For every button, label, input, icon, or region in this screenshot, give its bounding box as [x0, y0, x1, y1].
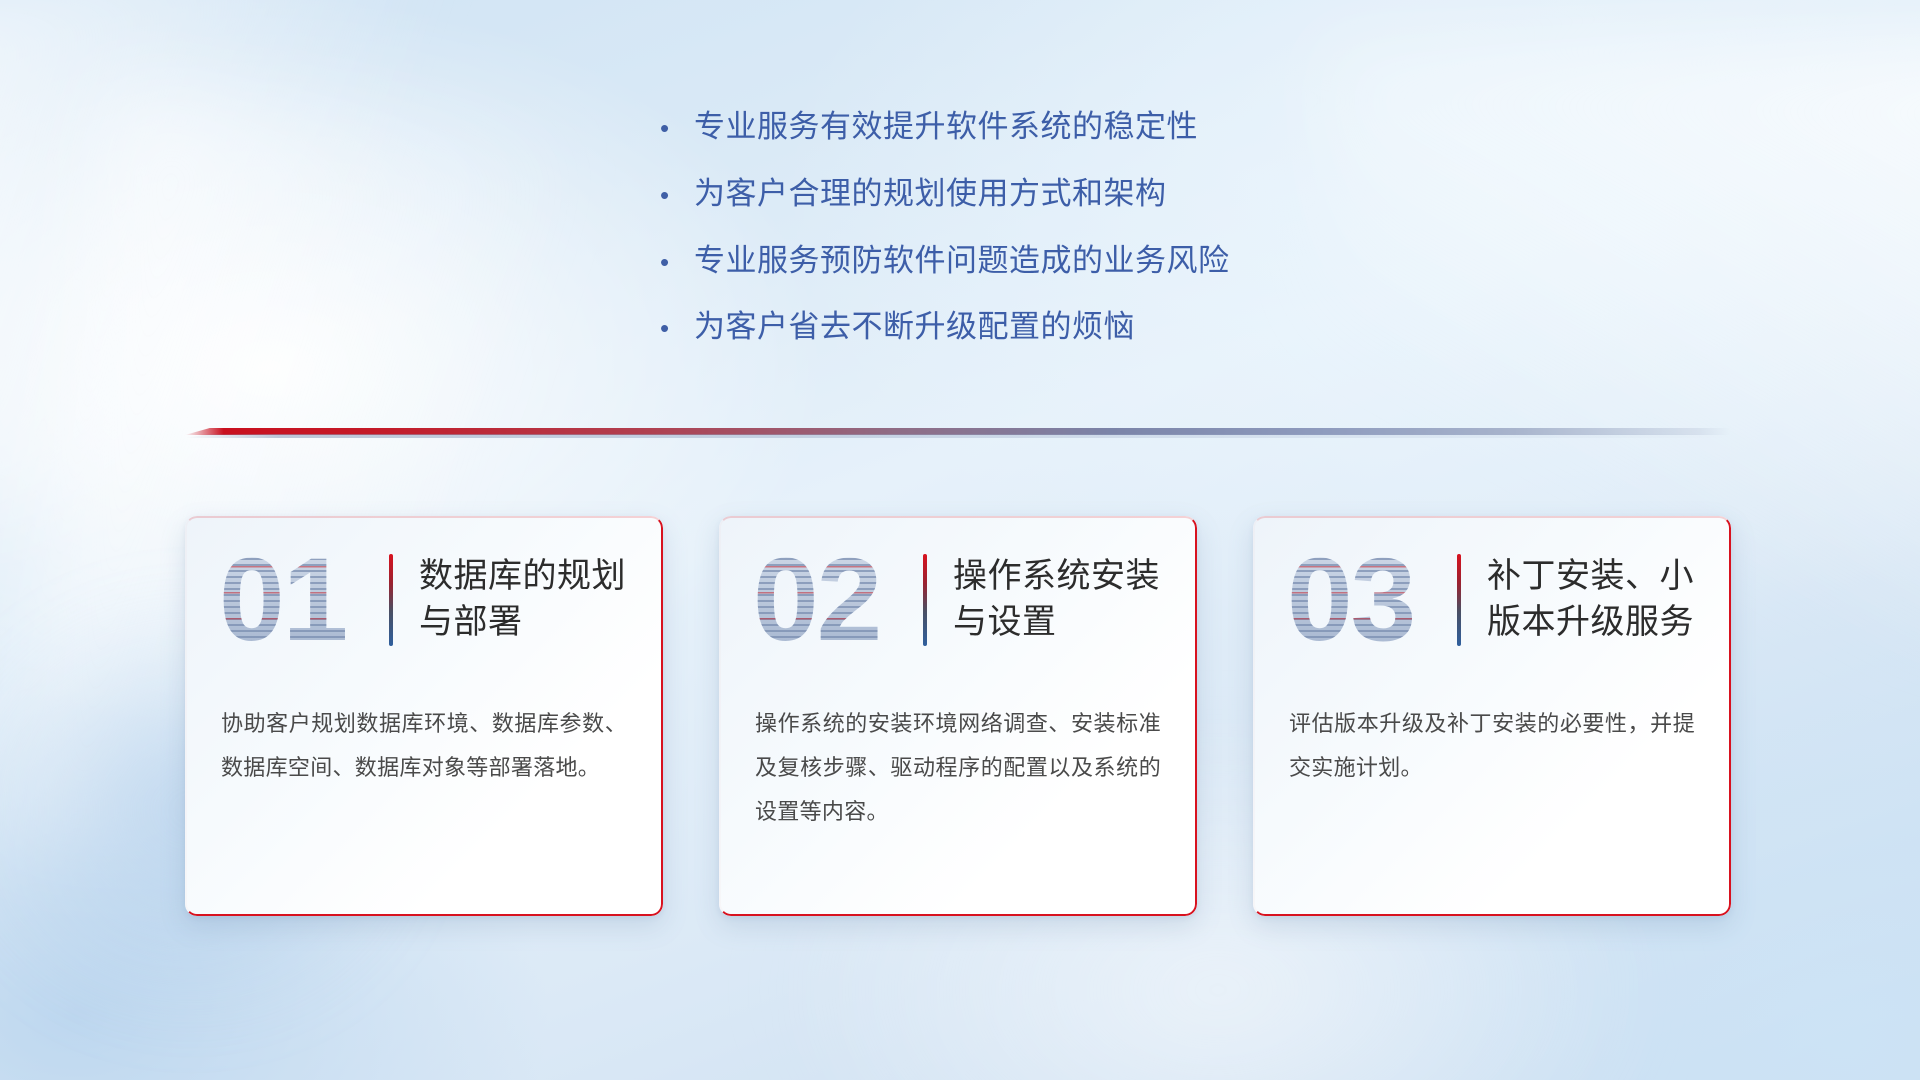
- bullet-dot-icon: •: [660, 315, 694, 341]
- section-divider: [185, 428, 1730, 440]
- card-01[interactable]: 0101 数据库的规划与部署 协助客户规划数据库环境、数据库参数、数据库空间、数…: [185, 516, 663, 916]
- card-header: 0202 操作系统安装与设置: [719, 516, 1197, 684]
- bullet-item-label: 为客户合理的规划使用方式和架构: [694, 175, 1167, 214]
- bullet-item: • 为客户合理的规划使用方式和架构: [660, 175, 1440, 214]
- card-02[interactable]: 0202 操作系统安装与设置 操作系统的安装环境网络调查、安装标准及复核步骤、驱…: [719, 516, 1197, 916]
- bullet-list: • 专业服务有效提升软件系统的稳定性 • 为客户合理的规划使用方式和架构 • 专…: [660, 108, 1440, 375]
- card-row: 0101 数据库的规划与部署 协助客户规划数据库环境、数据库参数、数据库空间、数…: [185, 516, 1733, 916]
- bullet-item-label: 专业服务预防软件问题造成的业务风险: [694, 242, 1230, 281]
- card-03[interactable]: 0303 补丁安装、小版本升级服务 评估版本升级及补丁安装的必要性，并提交实施计…: [1253, 516, 1731, 916]
- bullet-item-label: 为客户省去不断升级配置的烦恼: [694, 308, 1135, 347]
- card-body-text: 协助客户规划数据库环境、数据库参数、数据库空间、数据库对象等部署落地。: [185, 702, 663, 790]
- bullet-dot-icon: •: [660, 249, 694, 275]
- bullet-dot-icon: •: [660, 182, 694, 208]
- card-number-watermark: 0303: [1287, 540, 1447, 660]
- card-title: 补丁安装、小版本升级服务: [1487, 554, 1705, 646]
- accent-bar: [923, 554, 927, 646]
- accent-bar: [389, 554, 393, 646]
- card-header: 0303 补丁安装、小版本升级服务: [1253, 516, 1731, 684]
- card-number-watermark: 0101: [219, 540, 379, 660]
- divider-shadow: [185, 434, 1730, 438]
- slide-canvas: • 专业服务有效提升软件系统的稳定性 • 为客户合理的规划使用方式和架构 • 专…: [0, 0, 1920, 1080]
- card-title: 操作系统安装与设置: [953, 554, 1171, 646]
- accent-bar: [1457, 554, 1461, 646]
- card-number-watermark: 0202: [753, 540, 913, 660]
- card-number-watermark-overlay: 02: [753, 540, 913, 660]
- card-number-watermark-overlay: 01: [219, 540, 379, 660]
- bullet-item-label: 专业服务有效提升软件系统的稳定性: [694, 108, 1198, 147]
- card-body-text: 操作系统的安装环境网络调查、安装标准及复核步骤、驱动程序的配置以及系统的设置等内…: [719, 702, 1197, 834]
- card-header: 0101 数据库的规划与部署: [185, 516, 663, 684]
- card-number-watermark-overlay: 03: [1287, 540, 1447, 660]
- bullet-item: • 专业服务有效提升软件系统的稳定性: [660, 108, 1440, 147]
- bullet-item: • 专业服务预防软件问题造成的业务风险: [660, 242, 1440, 281]
- bullet-item: • 为客户省去不断升级配置的烦恼: [660, 308, 1440, 347]
- background-light-streak: [0, 0, 547, 519]
- card-body-text: 评估版本升级及补丁安装的必要性，并提交实施计划。: [1253, 702, 1731, 790]
- bullet-dot-icon: •: [660, 115, 694, 141]
- divider-gradient-edge: [185, 428, 1730, 435]
- card-title: 数据库的规划与部署: [419, 554, 637, 646]
